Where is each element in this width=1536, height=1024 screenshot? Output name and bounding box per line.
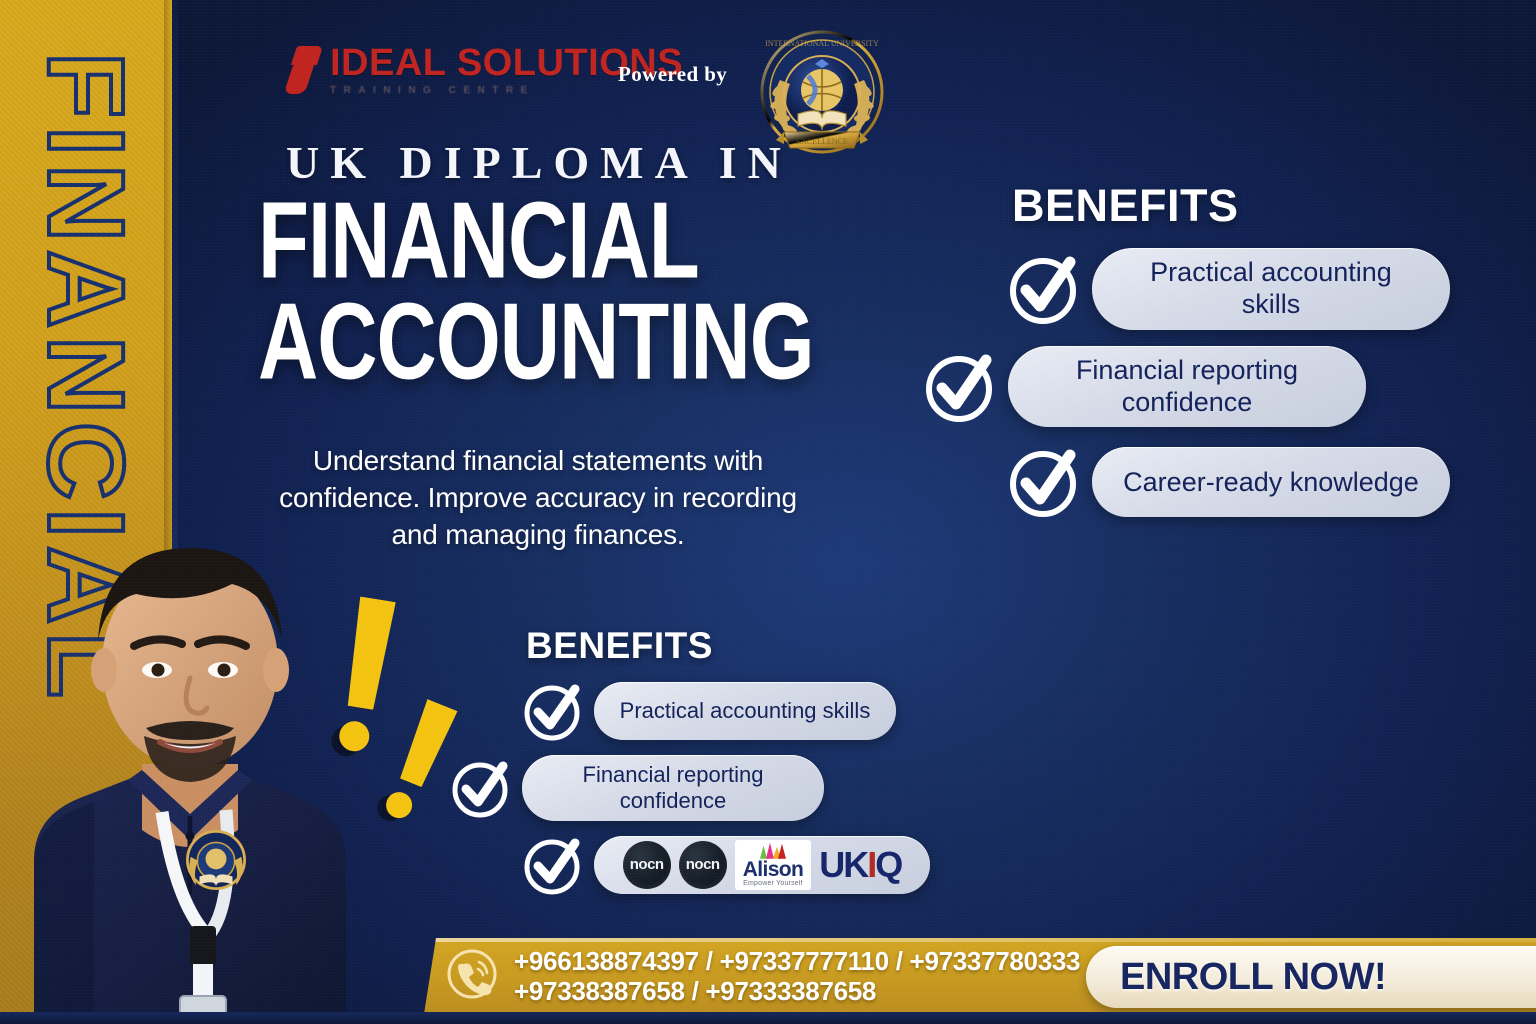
- phone-line-2: +97338387658 / +97333387658: [514, 976, 1080, 1006]
- benefits-panel-top: BENEFITS Practical accounting skills Fin…: [1006, 180, 1506, 521]
- check-circle-icon: [522, 679, 586, 743]
- benefit-pill[interactable]: Practical accounting skills: [594, 682, 896, 740]
- nocn-logo: nocn: [623, 841, 671, 889]
- title-line-1: FINANCIAL: [258, 192, 976, 292]
- check-circle-icon: [1006, 250, 1084, 328]
- bottom-navy-strip: [0, 1012, 1536, 1024]
- benefits-panel-bottom: BENEFITS Practical accounting skills Fin…: [450, 625, 930, 897]
- powered-by-label: Powered by: [618, 62, 727, 87]
- accreditation-pill[interactable]: nocn nocn Alison Empower Yourself UKIQ: [594, 836, 930, 894]
- benefit-pill[interactable]: Practical accounting skills: [1092, 248, 1450, 330]
- ideal-solutions-swoosh-icon: [288, 46, 322, 94]
- alison-wordmark: Alison: [743, 859, 804, 880]
- phone-line-1: +966138874397 / +97337777110 / +97337780…: [514, 946, 1080, 976]
- nocn-logo: nocn: [679, 841, 727, 889]
- page-title: FINANCIAL ACCOUNTING: [258, 192, 998, 372]
- phone-call-icon: [446, 948, 498, 1005]
- benefit-row: Financial reporting confidence: [450, 755, 930, 821]
- bar-sheen: [424, 938, 1536, 942]
- check-circle-icon: [1006, 443, 1084, 521]
- alison-logo: Alison Empower Yourself: [735, 840, 812, 890]
- check-circle-icon: [450, 756, 514, 820]
- hero-description: Understand financial statements with con…: [258, 442, 818, 554]
- ukiq-logo: UKIQ: [819, 847, 901, 883]
- benefit-row: Practical accounting skills: [1006, 248, 1506, 330]
- benefit-pill[interactable]: Financial reporting confidence: [1008, 346, 1366, 428]
- benefit-row: Career-ready knowledge: [1006, 443, 1506, 521]
- poster-canvas: FINANCIAL IDEAL SOLUTIONS TRAINING CENTR…: [0, 0, 1536, 1024]
- accreditation-logos: nocn nocn Alison Empower Yourself UKIQ: [623, 840, 902, 890]
- benefit-row: Practical accounting skills: [522, 679, 930, 743]
- title-line-2: ACCOUNTING: [258, 293, 976, 393]
- benefit-pill[interactable]: Financial reporting confidence: [522, 755, 824, 821]
- benefit-row: Financial reporting confidence: [922, 346, 1506, 428]
- benefits-title: BENEFITS: [1012, 180, 1506, 232]
- alison-mountain-icon: [758, 843, 788, 859]
- svg-text:EXCELLENCE: EXCELLENCE: [796, 137, 848, 146]
- check-circle-icon: [522, 833, 586, 897]
- benefit-pill[interactable]: Career-ready knowledge: [1092, 447, 1450, 517]
- benefits-title: BENEFITS: [526, 625, 930, 667]
- check-circle-icon: [922, 348, 1000, 426]
- enroll-now-button[interactable]: ENROLL NOW!: [1086, 946, 1536, 1008]
- phone-numbers[interactable]: +966138874397 / +97337777110 / +97337780…: [514, 946, 1080, 1006]
- accreditation-row: nocn nocn Alison Empower Yourself UKIQ: [522, 833, 930, 897]
- alison-tagline: Empower Yourself: [743, 880, 803, 888]
- svg-text:INTERNATIONAL UNIVERSITY: INTERNATIONAL UNIVERSITY: [765, 39, 879, 48]
- enroll-now-label: ENROLL NOW!: [1120, 956, 1386, 999]
